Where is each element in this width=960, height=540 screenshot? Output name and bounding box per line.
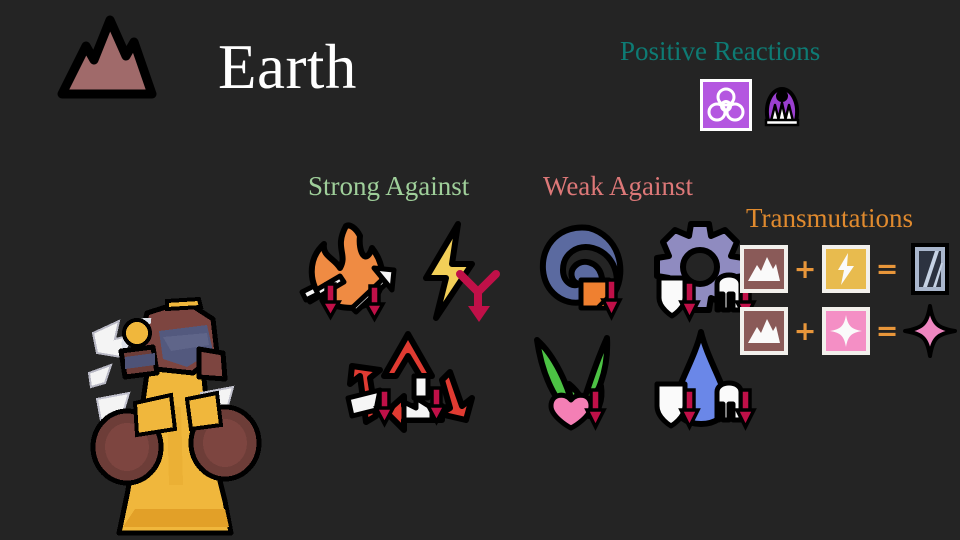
equals-symbol: = (874, 318, 900, 345)
plus-symbol: + (792, 318, 818, 345)
shield-down-badge (657, 384, 698, 427)
weak-against-icon-grid (535, 222, 750, 442)
storm-spiral-icon[interactable] (535, 222, 635, 327)
factory-down-badge (404, 376, 445, 422)
fork-down-badge (460, 274, 496, 310)
lightning-icon[interactable] (410, 222, 510, 327)
mountain-tile-icon[interactable] (740, 245, 788, 293)
element-info-panel: Earth Positive Reactions (0, 0, 960, 540)
heart-down-badge (551, 390, 604, 428)
biohazard-icon[interactable] (700, 79, 752, 131)
helmet-down-badge (717, 383, 754, 427)
positive-reactions-icon-list (700, 79, 806, 131)
fire-icon[interactable] (300, 222, 400, 327)
transmutation-recipe-list: + = (740, 238, 956, 362)
earth-creature-sprite (75, 295, 290, 540)
mountain-tile-icon[interactable] (740, 307, 788, 355)
strong-against-icon-grid (300, 222, 510, 442)
recycle-icon[interactable] (346, 332, 476, 437)
transmutations-heading: Transmutations (746, 205, 913, 232)
plus-symbol: + (792, 256, 818, 283)
positive-reactions-heading: Positive Reactions (620, 38, 820, 65)
page-title: Earth (218, 36, 357, 99)
pink-star-icon[interactable] (904, 305, 956, 357)
strong-against-row-2 (300, 332, 510, 442)
equals-symbol: = (874, 256, 900, 283)
strong-against-row-1 (300, 222, 510, 332)
shield-down-badge (659, 278, 698, 319)
mountain-icon (58, 14, 156, 98)
weak-against-row-2 (535, 332, 750, 442)
weak-against-row-1 (535, 222, 750, 332)
transmutation-row: + = (740, 238, 956, 300)
lightning-tile-icon[interactable] (822, 245, 870, 293)
weak-against-heading: Weak Against (543, 173, 693, 200)
glass-pane-icon[interactable] (904, 243, 956, 295)
grass-icon[interactable] (535, 332, 635, 437)
spore-fountain-icon[interactable] (758, 81, 806, 129)
card-down-badge (581, 280, 620, 317)
transmutation-row: + = (740, 300, 956, 362)
strong-against-heading: Strong Against (308, 173, 469, 200)
sparkle-tile-icon[interactable] (822, 307, 870, 355)
